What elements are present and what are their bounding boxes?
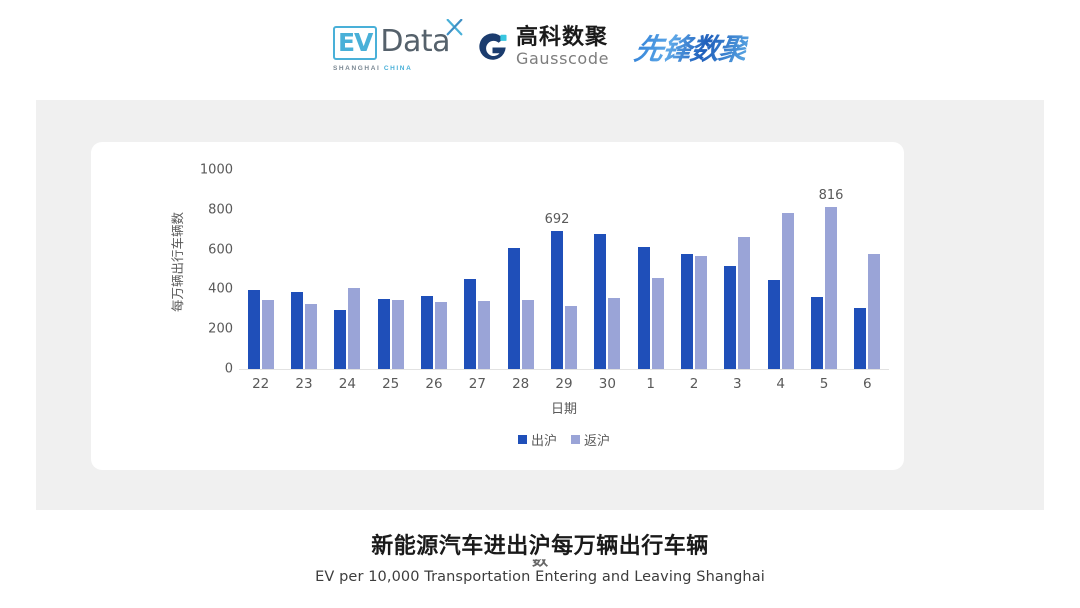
bar-wrapper [811,297,823,369]
bar-back[interactable] [522,300,534,369]
x-tick-label: 29 [555,376,572,392]
bar-chart: 每万辆出行车辆数 02004006008001000 692816 222324… [91,142,904,470]
bar-back[interactable] [608,298,620,369]
y-tick-label: 1000 [200,163,233,178]
bar-out[interactable] [334,310,346,369]
evdata-tagline-country: CHINA [384,65,413,72]
evdata-wordmark: EV Data [333,26,450,60]
bar-out[interactable] [854,308,866,369]
bar-wrapper [348,288,360,369]
footer: 新能源汽车进出沪每万辆出行车辆 数 EV per 10,000 Transpor… [0,528,1080,585]
y-axis-ticks: 02004006008001000 [191,142,233,470]
bar-group [846,170,889,369]
gausscode-en-name: Gausscode [516,51,609,67]
x-tick-label: 4 [776,376,785,392]
bar-wrapper [464,279,476,369]
y-tick-label: 600 [208,242,233,257]
legend-item-out[interactable]: 出沪 [518,430,557,449]
x-axis-line [239,369,889,370]
bar-group: 816 [802,170,845,369]
x-axis-ticks: 222324252627282930123456 [239,376,889,396]
y-tick-label: 800 [208,202,233,217]
bar-wrapper [565,306,577,369]
bar-wrapper [854,308,866,369]
bar-out[interactable] [248,290,260,369]
y-axis-title: 每万辆出行车辆数 [167,177,183,347]
bar-group [672,170,715,369]
bar-value-label: 816 [819,188,844,203]
bar-wrapper [608,298,620,369]
x-tick-label: 26 [425,376,442,392]
bar-wrapper: 692 [551,231,563,369]
bar-group [282,170,325,369]
bar-back[interactable] [348,288,360,369]
x-tick-label: 5 [820,376,829,392]
y-tick-label: 200 [208,322,233,337]
bar-wrapper [305,304,317,369]
bar-group [412,170,455,369]
bar-wrapper [435,302,447,369]
page-subtitle: EV per 10,000 Transportation Entering an… [0,569,1080,585]
bar-wrapper [594,234,606,369]
bar-back[interactable] [695,256,707,369]
evdata-tagline-city: SHANGHAI [333,65,380,72]
bar-wrapper [782,213,794,369]
x-tick-label: 2 [690,376,699,392]
bar-group [716,170,759,369]
bar-out[interactable] [464,279,476,369]
bar-wrapper [248,290,260,369]
bar-out[interactable] [378,299,390,369]
bar-out[interactable] [508,248,520,369]
x-tick-label: 28 [512,376,529,392]
bar-out[interactable] [681,254,693,369]
chart-legend: 出沪返沪 [239,430,889,449]
legend-swatch [571,435,580,444]
x-tick-label: 30 [599,376,616,392]
bar-back[interactable] [305,304,317,369]
x-tick-label: 1 [646,376,655,392]
gausscode-logo: 高科数聚 Gausscode [476,27,609,67]
legend-label: 返沪 [584,430,610,449]
logo-header: EV Data SHANGHAI CHINA 高科数聚 Gausscode 先锋… [0,0,1080,94]
bar-back[interactable] [435,302,447,369]
x-tick-label: 24 [339,376,356,392]
bar-back[interactable] [392,300,404,369]
bar-wrapper: 816 [825,207,837,369]
bar-out[interactable] [724,266,736,369]
bar-group [629,170,672,369]
bar-out[interactable]: 692 [551,231,563,369]
bar-group [456,170,499,369]
bar-wrapper [478,301,490,369]
page-title: 新能源汽车进出沪每万辆出行车辆 [0,528,1080,560]
gausscode-text: 高科数聚 Gausscode [516,27,609,67]
bar-out[interactable] [421,296,433,369]
gausscode-g-mark-icon [476,31,509,64]
bar-back[interactable] [782,213,794,369]
gausscode-cn-name: 高科数聚 [516,27,609,49]
bar-wrapper [868,254,880,369]
evdata-ev-mark: EV [333,26,377,60]
bar-wrapper [291,292,303,369]
bar-back[interactable] [738,237,750,369]
legend-item-back[interactable]: 返沪 [571,430,610,449]
x-tick-label: 25 [382,376,399,392]
plot-area: 692816 [239,170,889,369]
bar-back[interactable] [262,300,274,369]
bar-group [369,170,412,369]
bar-value-label: 692 [545,212,570,227]
x-tick-label: 3 [733,376,742,392]
bar-out[interactable] [768,280,780,369]
bar-group [239,170,282,369]
x-tick-label: 22 [252,376,269,392]
bar-back[interactable] [565,306,577,369]
y-tick-label: 0 [225,362,233,377]
bar-wrapper [421,296,433,369]
bar-wrapper [681,254,693,369]
bar-wrapper [392,300,404,369]
x-tick-label: 27 [469,376,486,392]
bar-back[interactable] [868,254,880,369]
xianfeng-logo: 先锋数聚 [632,26,751,68]
bar-back[interactable] [652,278,664,369]
bar-group [759,170,802,369]
bar-wrapper [378,299,390,369]
bar-wrapper [738,237,750,369]
bar-group: 692 [542,170,585,369]
bar-out[interactable] [594,234,606,369]
bar-wrapper [334,310,346,369]
evdata-tagline: SHANGHAI CHINA [333,65,412,72]
bar-wrapper [724,266,736,369]
bar-wrapper [522,300,534,369]
bar-wrapper [652,278,664,369]
bar-out[interactable] [638,247,650,369]
y-tick-label: 400 [208,282,233,297]
legend-swatch [518,435,527,444]
bar-out[interactable] [811,297,823,369]
bar-out[interactable] [291,292,303,369]
bar-group [326,170,369,369]
evdata-data-word: Data [380,27,450,57]
x-axis-title: 日期 [239,398,889,417]
bar-back[interactable]: 816 [825,207,837,369]
bar-wrapper [768,280,780,369]
bar-back[interactable] [478,301,490,369]
bar-group [499,170,542,369]
evdata-logo: EV Data SHANGHAI CHINA [333,22,450,72]
bar-wrapper [508,248,520,369]
legend-label: 出沪 [531,430,557,449]
x-tick-label: 23 [295,376,312,392]
x-tick-label: 6 [863,376,872,392]
bar-wrapper [262,300,274,369]
bar-wrapper [695,256,707,369]
x-cross-icon [446,19,463,36]
bar-wrapper [638,247,650,369]
bar-group [586,170,629,369]
